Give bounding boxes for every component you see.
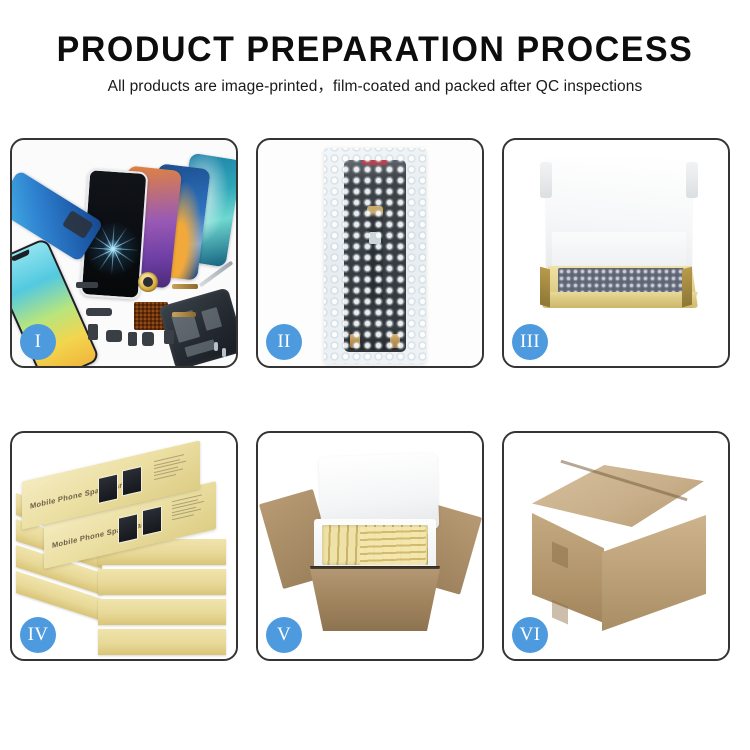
page-title: PRODUCT PREPARATION PROCESS bbox=[11, 30, 739, 70]
battery-connector-part bbox=[76, 282, 98, 288]
flex-cable-part-1 bbox=[172, 284, 198, 289]
sim-tray-part bbox=[128, 332, 137, 346]
grey-bubble-padding bbox=[558, 268, 684, 296]
carton-body-open bbox=[310, 569, 440, 631]
speaker-coil-part bbox=[138, 272, 158, 292]
step-badge-1: I bbox=[20, 324, 56, 360]
bubble-wrap-package bbox=[324, 148, 426, 364]
steps-grid: I II bbox=[10, 138, 740, 661]
box-spec-lines-2 bbox=[172, 493, 206, 522]
step-badge-3: III bbox=[512, 324, 548, 360]
box-artwork-1b bbox=[122, 466, 142, 497]
box-artwork-1a bbox=[98, 473, 118, 504]
bracket-part-1 bbox=[86, 308, 112, 316]
step-panel-1: I bbox=[10, 138, 238, 368]
page-subtitle: All products are image-printed，film-coat… bbox=[0, 77, 750, 97]
header: PRODUCT PREPARATION PROCESS All products… bbox=[0, 30, 750, 97]
step-badge-6: VI bbox=[512, 617, 548, 653]
screw-part-2 bbox=[222, 348, 226, 357]
kraft-tray-side-right bbox=[682, 267, 692, 308]
box-artwork-2a bbox=[118, 513, 138, 544]
stacked-box-r3 bbox=[98, 599, 226, 625]
step-badge-2: II bbox=[266, 324, 302, 360]
step-badge-4: IV bbox=[20, 617, 56, 653]
step-panel-3: III bbox=[502, 138, 730, 368]
stacked-box-r4 bbox=[98, 629, 226, 655]
box-artwork-2b bbox=[142, 506, 162, 537]
step-badge-5: V bbox=[266, 617, 302, 653]
step-panel-4: Mobile Phone Spare Parts Mobile Phone Sp… bbox=[10, 431, 238, 661]
packed-boxes-row-2 bbox=[360, 527, 426, 565]
box-spec-lines-1 bbox=[154, 453, 188, 482]
screw-part-1 bbox=[214, 342, 218, 351]
step-panel-2: II bbox=[256, 138, 484, 368]
step-panel-5: V bbox=[256, 431, 484, 661]
camera-module-part bbox=[106, 330, 122, 342]
button-part bbox=[164, 330, 174, 344]
stacked-box-r2 bbox=[98, 569, 226, 595]
flex-cable-part-2 bbox=[172, 312, 196, 317]
vibrator-part bbox=[142, 332, 154, 346]
kraft-tray-front bbox=[542, 292, 698, 308]
step-panel-6: VI bbox=[502, 431, 730, 661]
bracket-part-2 bbox=[88, 324, 98, 340]
bubble-texture bbox=[324, 148, 426, 364]
spare-parts-cluster bbox=[76, 268, 236, 366]
kraft-tray-side-left bbox=[540, 267, 550, 308]
product-preparation-infographic: PRODUCT PREPARATION PROCESS All products… bbox=[0, 0, 750, 750]
